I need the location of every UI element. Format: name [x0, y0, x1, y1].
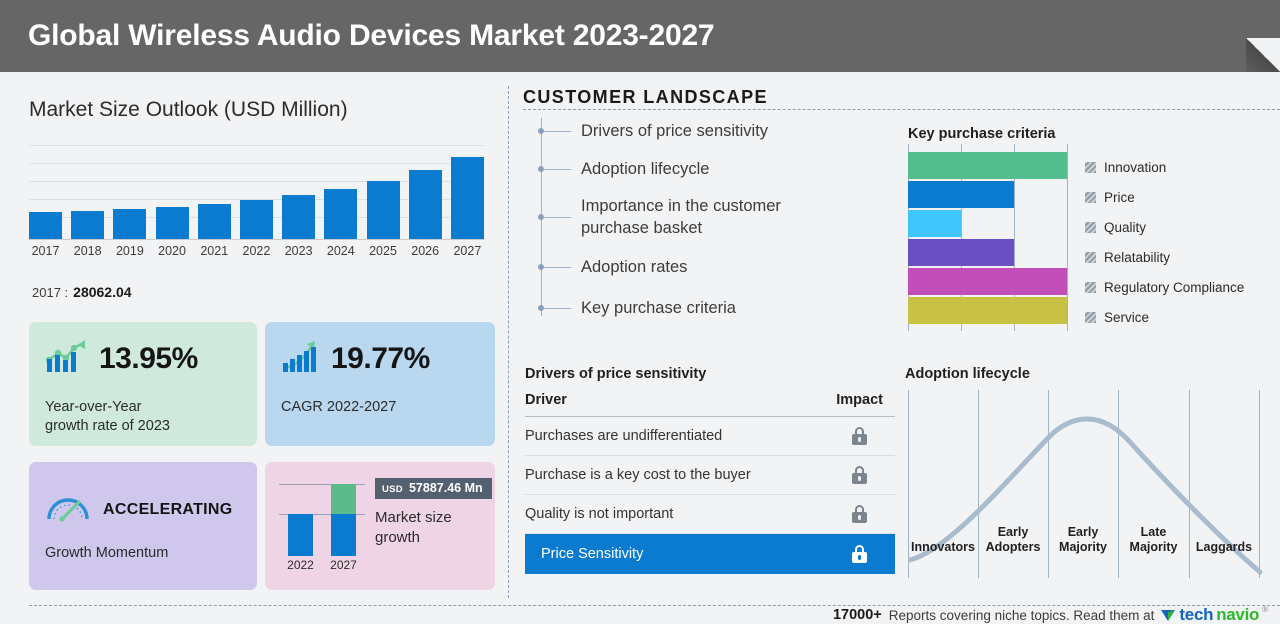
driver-name: Purchase is a key cost to the buyer [525, 467, 751, 483]
bar-chart-trend-icon [45, 338, 87, 379]
key-purchase-criteria-legend: InnovationPriceQualityRelatabilityRegula… [1085, 152, 1244, 332]
customer-landscape-item-label: Drivers of price sensitivity [581, 120, 768, 142]
datum-value: 28062.04 [73, 284, 131, 300]
bar-2025 [367, 145, 400, 239]
lock-icon [852, 505, 867, 523]
mini-label-2022: 2022 [286, 558, 316, 572]
drivers-table: Driver Impact Purchases are undifferenti… [525, 392, 895, 574]
kpc-bar-relatability [908, 239, 1014, 266]
kpc-bar-quality [908, 210, 961, 237]
bar-chart-x-axis-labels: 2017201820192020202120222023202420252026… [29, 244, 484, 258]
technavio-mark-icon [1161, 608, 1176, 622]
kpc-legend-item-quality: Quality [1085, 212, 1244, 242]
panel-divider [508, 86, 509, 598]
table-row[interactable]: Purchase is a key cost to the buyer [525, 456, 895, 495]
x-label-2024: 2024 [324, 244, 357, 258]
adoption-lifecycle-title: Adoption lifecycle [905, 366, 1030, 382]
column-header-driver: Driver [525, 392, 567, 408]
customer-landscape-title: CUSTOMER LANDSCAPE [523, 87, 768, 108]
hatched-swatch-icon [1085, 222, 1096, 233]
technavio-logo[interactable]: tech navio ® [1161, 605, 1268, 624]
kpc-legend-item-price: Price [1085, 182, 1244, 212]
kpc-legend-item-relatability: Relatability [1085, 242, 1244, 272]
logo-text-navio: navio [1216, 605, 1259, 624]
logo-trademark: ® [1262, 605, 1268, 614]
connector-line [544, 131, 571, 132]
mini-bar-2022 [288, 480, 313, 556]
mini-bar-2027 [331, 480, 356, 556]
customer-landscape-item-4[interactable]: Adoption rates [541, 256, 687, 278]
datum-label: 2017 : [32, 285, 68, 300]
lock-icon [852, 545, 867, 563]
market-size-value-badge: USD 57887.46 Mn [375, 478, 492, 499]
column-header-impact: Impact [836, 392, 883, 408]
cagr-card: 19.77% CAGR 2022-2027 [265, 322, 495, 446]
speedometer-icon [45, 492, 91, 527]
footer-text: Reports covering niche topics. Read them… [889, 608, 1155, 623]
customer-landscape-item-label: Key purchase criteria [581, 297, 736, 319]
corner-fold-decoration [1246, 38, 1280, 72]
bar-series [29, 145, 484, 239]
market-size-panel: Market Size Outlook (USD Million) 201720… [0, 72, 508, 624]
yoy-caption: Year-over-Year growth rate of 2023 [45, 398, 170, 436]
x-label-2023: 2023 [282, 244, 315, 258]
table-row[interactable]: Price Sensitivity [525, 534, 895, 574]
cagr-value: 19.77% [331, 342, 430, 376]
customer-landscape-item-3[interactable]: Importance in the customer purchase bask… [541, 195, 831, 239]
badge-value: 57887.46 Mn [409, 481, 483, 495]
market-size-bar-chart [29, 145, 484, 240]
first-year-datum: 2017 :28062.04 [32, 284, 132, 300]
kpc-legend-label: Price [1104, 190, 1135, 205]
x-label-2020: 2020 [156, 244, 189, 258]
drivers-table-title: Drivers of price sensitivity [525, 366, 706, 382]
customer-landscape-item-label: Adoption lifecycle [581, 158, 709, 180]
growth-caption: Market size growth [375, 508, 452, 548]
badge-currency: USD [382, 484, 403, 495]
driver-name: Purchases are undifferentiated [525, 428, 722, 444]
lock-icon [852, 466, 867, 484]
kpc-legend-label: Quality [1104, 220, 1146, 235]
footer: 17000+ Reports covering niche topics. Re… [0, 606, 1280, 624]
adoption-stage-innovators: Innovators [908, 540, 978, 555]
hatched-swatch-icon [1085, 252, 1096, 263]
momentum-caption: Growth Momentum [45, 544, 168, 563]
adoption-stage-laggards: Laggards [1189, 540, 1259, 555]
kpc-legend-label: Relatability [1104, 250, 1170, 265]
adoption-stage-late-majority: Late Majority [1118, 525, 1189, 555]
bar-2026 [409, 145, 442, 239]
customer-landscape-item-label: Importance in the customer purchase bask… [581, 195, 831, 239]
connector-line [544, 267, 571, 268]
infographic-page: Global Wireless Audio Devices Market 202… [0, 0, 1280, 624]
market-size-growth-mini-chart: 2022 2027 [279, 480, 365, 572]
connector-line [544, 308, 571, 309]
page-title: Global Wireless Audio Devices Market 202… [28, 19, 714, 53]
mini-label-2027: 2027 [329, 558, 359, 572]
driver-name: Price Sensitivity [541, 546, 643, 562]
table-row[interactable]: Purchases are undifferentiated [525, 417, 895, 456]
bar-2020 [156, 145, 189, 239]
yoy-value: 13.95% [99, 342, 198, 376]
x-label-2022: 2022 [240, 244, 273, 258]
adoption-lifecycle-stage-labels: InnovatorsEarly AdoptersEarly MajorityLa… [908, 540, 1268, 555]
customer-landscape-item-5[interactable]: Key purchase criteria [541, 297, 736, 319]
connector-line [544, 217, 571, 218]
kpc-legend-item-regulatory-compliance: Regulatory Compliance [1085, 272, 1244, 302]
key-purchase-criteria-chart [908, 144, 1068, 331]
bar-2027 [451, 145, 484, 239]
kpc-bar-innovation [908, 152, 1067, 179]
table-row[interactable]: Quality is not important [525, 495, 895, 534]
momentum-value: ACCELERATING [103, 501, 233, 519]
header-bar: Global Wireless Audio Devices Market 202… [0, 0, 1280, 72]
market-size-growth-card: 2022 2027 USD 57887.46 Mn Market size gr… [265, 462, 495, 590]
key-purchase-criteria-title: Key purchase criteria [908, 126, 1056, 142]
table-header-row: Driver Impact [525, 392, 895, 417]
hatched-swatch-icon [1085, 282, 1096, 293]
bar-2024 [324, 145, 357, 239]
growth-momentum-card: ACCELERATING Growth Momentum [29, 462, 257, 590]
kpc-legend-item-innovation: Innovation [1085, 152, 1244, 182]
kpc-legend-label: Regulatory Compliance [1104, 280, 1244, 295]
x-label-2026: 2026 [409, 244, 442, 258]
x-label-2018: 2018 [71, 244, 104, 258]
adoption-stage-early-majority: Early Majority [1048, 525, 1118, 555]
kpc-bar-service [908, 297, 1067, 324]
x-label-2025: 2025 [367, 244, 400, 258]
kpc-bar-price [908, 181, 1014, 208]
lock-icon [852, 427, 867, 445]
bar-2022 [240, 145, 273, 239]
kpc-legend-label: Service [1104, 310, 1149, 325]
cagr-caption: CAGR 2022-2027 [281, 398, 396, 417]
kpc-legend-label: Innovation [1104, 160, 1166, 175]
report-count: 17000+ [833, 607, 882, 623]
hatched-swatch-icon [1085, 162, 1096, 173]
bar-chart-arrow-icon [281, 338, 319, 379]
bar-2023 [282, 145, 315, 239]
logo-text-tech: tech [1179, 605, 1213, 624]
bar-2018 [71, 145, 104, 239]
x-label-2017: 2017 [29, 244, 62, 258]
x-label-2021: 2021 [198, 244, 231, 258]
connector-line [544, 169, 571, 170]
x-label-2019: 2019 [113, 244, 146, 258]
adoption-stage-early-adopters: Early Adopters [978, 525, 1048, 555]
bar-2017 [29, 145, 62, 239]
hatched-swatch-icon [1085, 312, 1096, 323]
customer-landscape-item-label: Adoption rates [581, 256, 687, 278]
kpc-bar-regulatory-compliance [908, 268, 1067, 295]
kpc-legend-item-service: Service [1085, 302, 1244, 332]
bar-2021 [198, 145, 231, 239]
hatched-swatch-icon [1085, 192, 1096, 203]
yoy-growth-card: 13.95% Year-over-Year growth rate of 202… [29, 322, 257, 446]
bar-2019 [113, 145, 146, 239]
x-label-2027: 2027 [451, 244, 484, 258]
customer-landscape-item-1[interactable]: Drivers of price sensitivity [541, 120, 768, 142]
customer-landscape-underline [523, 109, 1280, 110]
market-size-panel-title: Market Size Outlook (USD Million) [29, 98, 348, 122]
driver-name: Quality is not important [525, 506, 673, 522]
customer-landscape-item-2[interactable]: Adoption lifecycle [541, 158, 709, 180]
